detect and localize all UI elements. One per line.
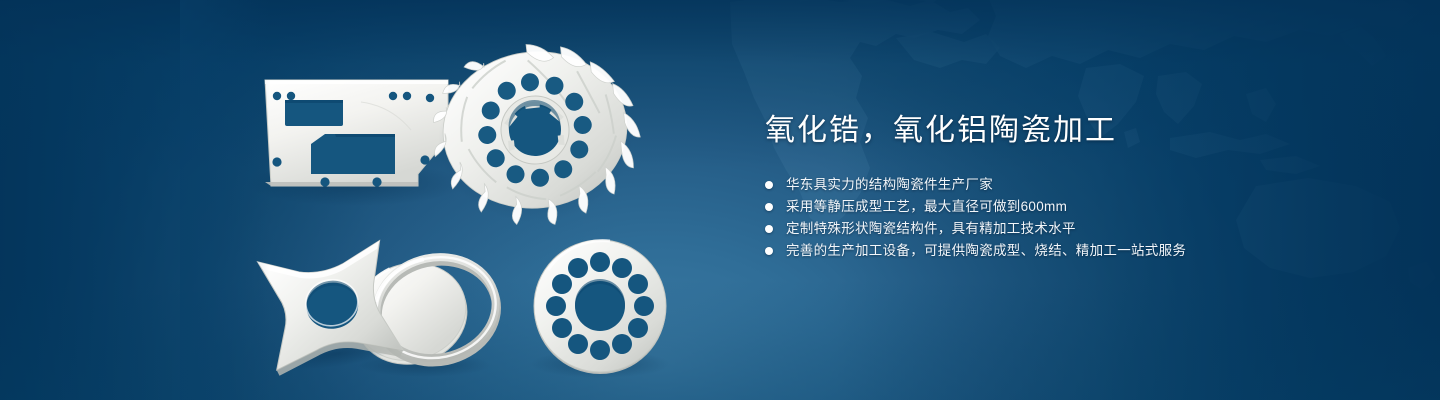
bullet-dot-icon (765, 225, 773, 233)
page-title: 氧化锆，氧化铝陶瓷加工 (765, 110, 1385, 152)
bullet-dot-icon (765, 181, 773, 189)
feature-text: 采用等静压成型工艺，最大直径可做到600mm (786, 196, 1067, 218)
list-item: 定制特殊形状陶瓷结构件，具有精加工技术水平 (765, 218, 1385, 240)
feature-text: 定制特殊形状陶瓷结构件，具有精加工技术水平 (786, 218, 1076, 240)
bullet-dot-icon (765, 247, 773, 255)
feature-text: 华东具实力的结构陶瓷件生产厂家 (786, 174, 993, 196)
bullet-dot-icon (765, 203, 773, 211)
hero-banner: 氧化锆，氧化铝陶瓷加工 华东具实力的结构陶瓷件生产厂家 采用等静压成型工艺，最大… (0, 0, 1440, 400)
list-item: 完善的生产加工设备，可提供陶瓷成型、烧结、精加工一站式服务 (765, 240, 1385, 262)
feature-list: 华东具实力的结构陶瓷件生产厂家 采用等静压成型工艺，最大直径可做到600mm 定… (765, 174, 1385, 262)
product-photo-collage (215, 34, 715, 384)
list-item: 华东具实力的结构陶瓷件生产厂家 (765, 174, 1385, 196)
feature-text: 完善的生产加工设备，可提供陶瓷成型、烧结、精加工一站式服务 (786, 240, 1186, 262)
list-item: 采用等静压成型工艺，最大直径可做到600mm (765, 196, 1385, 218)
banner-text-block: 氧化锆，氧化铝陶瓷加工 华东具实力的结构陶瓷件生产厂家 采用等静压成型工艺，最大… (765, 110, 1385, 262)
